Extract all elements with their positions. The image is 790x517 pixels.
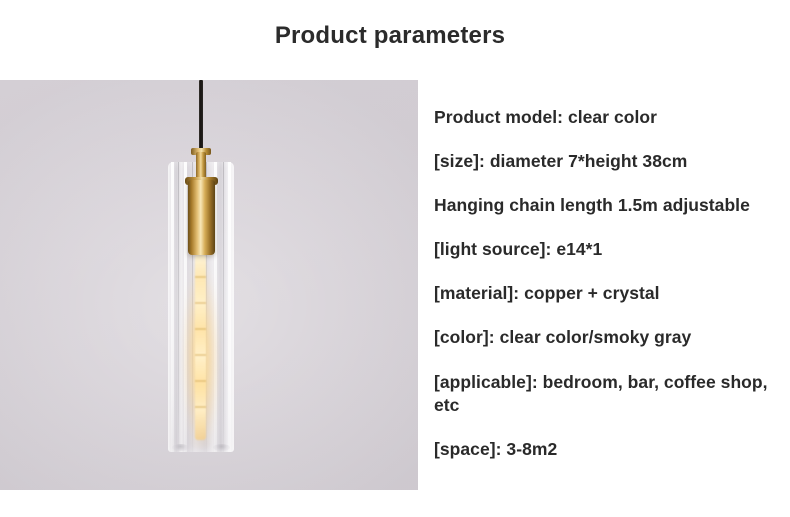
glass-rod-tip-left bbox=[172, 444, 189, 451]
product-parameters-page: Product parameters Product model: c bbox=[0, 0, 790, 517]
filament-bulb bbox=[195, 255, 206, 440]
filament-coil-1 bbox=[195, 276, 206, 278]
spec-light-source: [light source]: e14*1 bbox=[434, 238, 782, 261]
glass-rod-tip-right bbox=[213, 444, 230, 451]
spec-color: [color]: clear color/smoky gray bbox=[434, 326, 782, 349]
page-title: Product parameters bbox=[0, 22, 780, 50]
spec-material: [material]: copper + crystal bbox=[434, 282, 782, 305]
spec-space: [space]: 3-8m2 bbox=[434, 438, 782, 461]
brass-socket bbox=[188, 180, 215, 255]
hanging-cord bbox=[199, 80, 203, 154]
filament-coil-2 bbox=[195, 302, 206, 304]
glass-highlight-left bbox=[171, 162, 174, 452]
filament-coil-3 bbox=[195, 328, 206, 330]
glass-highlight-right bbox=[228, 162, 231, 452]
spec-applicable: [applicable]: bedroom, bar, coffee shop,… bbox=[434, 371, 782, 417]
spec-size: [size]: diameter 7*height 38cm bbox=[434, 150, 782, 173]
filament-coil-6 bbox=[195, 406, 206, 408]
specification-list: Product model: clear color [size]: diame… bbox=[434, 106, 782, 461]
product-photo bbox=[0, 80, 418, 490]
filament-coil-5 bbox=[195, 380, 206, 382]
spec-hanging-chain: Hanging chain length 1.5m adjustable bbox=[434, 194, 782, 217]
spec-product-model: Product model: clear color bbox=[434, 106, 782, 129]
filament-coil-4 bbox=[195, 354, 206, 356]
